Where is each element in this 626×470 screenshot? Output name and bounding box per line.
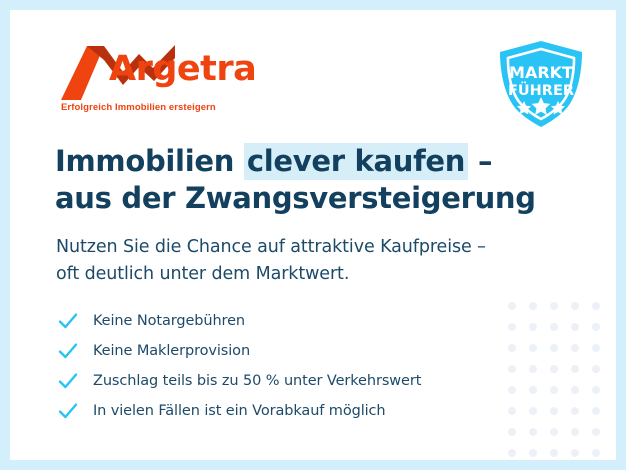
decoration-dot — [529, 407, 537, 415]
benefit-item: Zuschlag teils bis zu 50 % unter Verkehr… — [57, 366, 527, 395]
check-icon — [57, 310, 79, 332]
decoration-dot — [571, 323, 579, 331]
decoration-dot — [571, 365, 579, 373]
headline-line1-post: – — [468, 144, 492, 178]
decoration-dot — [592, 407, 600, 415]
argetra-logo[interactable]: Argetra Erfolgreich Immobilien ersteiger… — [57, 44, 257, 122]
headline-highlight: clever kaufen — [244, 143, 468, 180]
decoration-dot — [571, 449, 579, 457]
decoration-dot — [529, 323, 537, 331]
headline: Immobilien clever kaufen – aus der Zwang… — [55, 143, 555, 217]
headline-line-2: aus der Zwangsversteigerung — [55, 180, 555, 217]
decoration-dot — [529, 449, 537, 457]
decoration-dot — [571, 344, 579, 352]
decoration-dot — [550, 302, 558, 310]
decoration-dot — [550, 386, 558, 394]
decoration-dot — [592, 344, 600, 352]
badge-line2: FÜHRER — [508, 81, 574, 99]
badge-line1: MARKT — [509, 63, 573, 82]
decoration-dot — [550, 344, 558, 352]
decoration-dot — [529, 428, 537, 436]
subtitle-line-2: oft deutlich unter dem Marktwert. — [56, 261, 556, 288]
check-icon — [57, 400, 79, 422]
shield-icon: MARKT FÜHRER — [494, 38, 588, 130]
decoration-dot — [592, 428, 600, 436]
decoration-dot — [529, 386, 537, 394]
decoration-dot — [550, 449, 558, 457]
decoration-dot — [550, 428, 558, 436]
market-leader-badge: MARKT FÜHRER — [494, 38, 588, 130]
check-icon — [57, 340, 79, 362]
decoration-dot — [592, 323, 600, 331]
decoration-dot — [508, 449, 516, 457]
decoration-dot — [550, 365, 558, 373]
decoration-dot — [571, 386, 579, 394]
decoration-dot — [529, 344, 537, 352]
decoration-dot — [571, 428, 579, 436]
headline-line1-pre: Immobilien — [55, 144, 244, 178]
benefit-label: Keine Maklerprovision — [93, 343, 250, 359]
decoration-dot — [550, 323, 558, 331]
benefit-item: Keine Maklerprovision — [57, 336, 527, 365]
decoration-dot — [592, 302, 600, 310]
decoration-dot — [592, 365, 600, 373]
headline-line-1: Immobilien clever kaufen – — [55, 143, 555, 180]
benefit-item: Keine Notargebühren — [57, 306, 527, 335]
promo-banner: Argetra Erfolgreich Immobilien ersteiger… — [0, 0, 626, 470]
decoration-dot — [529, 302, 537, 310]
benefit-label: Keine Notargebühren — [93, 313, 245, 329]
check-icon — [57, 370, 79, 392]
subtitle-line-1: Nutzen Sie die Chance auf attraktive Kau… — [56, 234, 556, 261]
benefit-label: In vielen Fällen ist ein Vorabkauf mögli… — [93, 403, 386, 419]
decoration-dot — [550, 407, 558, 415]
decoration-dot — [571, 302, 579, 310]
subtitle: Nutzen Sie die Chance auf attraktive Kau… — [56, 234, 556, 287]
decoration-dot — [571, 407, 579, 415]
decoration-dot — [592, 449, 600, 457]
logo-tagline: Erfolgreich Immobilien ersteigern — [61, 102, 216, 113]
decoration-dot — [592, 386, 600, 394]
banner-canvas: Argetra Erfolgreich Immobilien ersteiger… — [10, 10, 616, 460]
benefit-label: Zuschlag teils bis zu 50 % unter Verkehr… — [93, 373, 421, 389]
benefit-item: In vielen Fällen ist ein Vorabkauf mögli… — [57, 396, 527, 425]
decoration-dot — [529, 365, 537, 373]
logo-wordmark: Argetra — [109, 52, 256, 87]
benefit-list: Keine NotargebührenKeine Maklerprovision… — [57, 306, 527, 426]
decoration-dot — [508, 428, 516, 436]
